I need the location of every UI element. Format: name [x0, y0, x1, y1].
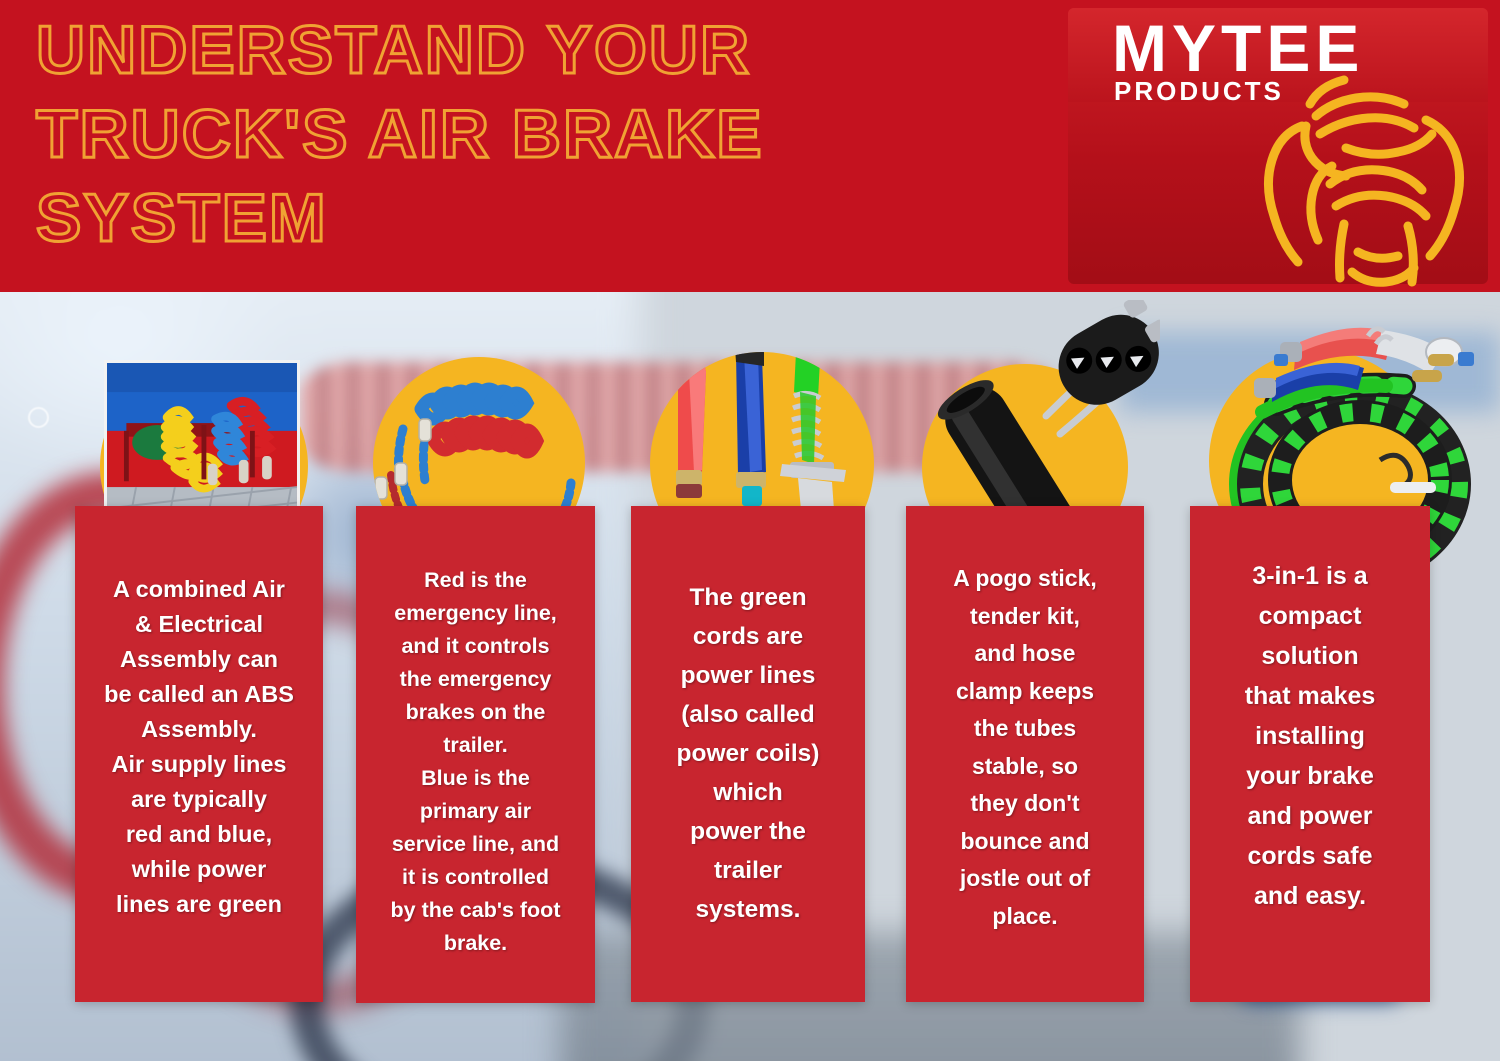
page-title: UNDERSTAND YOUR TRUCK'S AIR BRAKE SYSTEM — [36, 8, 1046, 260]
panel-3-text: The green cords are power lines (also ca… — [631, 578, 865, 929]
header-banner: UNDERSTAND YOUR TRUCK'S AIR BRAKE SYSTEM… — [0, 0, 1500, 292]
panel-1-text: A combined Air & Electrical Assembly can… — [75, 572, 323, 922]
panel-2-text: Red is the emergency line, and it contro… — [356, 564, 595, 960]
panel-5-text: 3-in-1 is a compact solution that makes … — [1190, 556, 1430, 916]
decorative-ring-icon — [28, 407, 49, 428]
logo-tagline-text: PRODUCTS — [1114, 76, 1284, 107]
logo-brand-text: MYTEE — [1112, 10, 1364, 86]
flexing-muscle-man-icon — [1258, 74, 1488, 292]
panel-4-text: A pogo stick, tender kit, and hose clamp… — [906, 560, 1144, 935]
